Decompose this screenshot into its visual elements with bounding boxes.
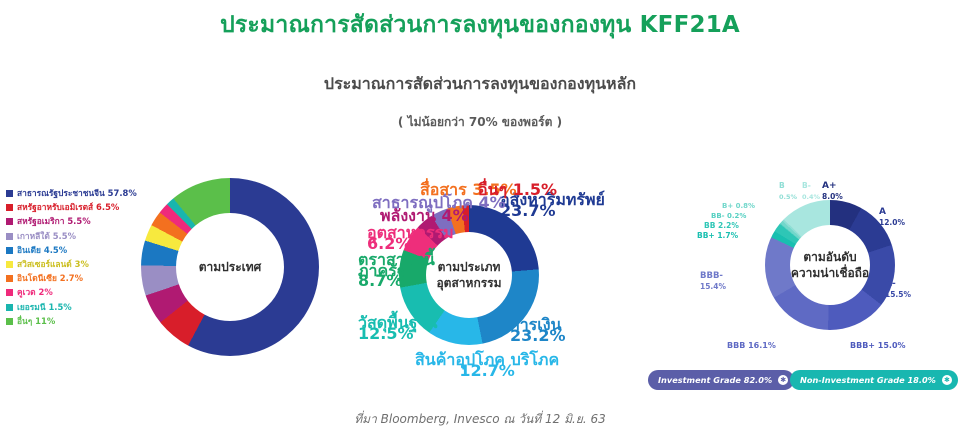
legend-swatch-icon [6,261,13,268]
page-subtitle: ประมาณการสัดส่วนการลงทุนของกองทุนหลัก [0,72,960,96]
rating-label-bb-minus: BB- 0.2% [711,211,746,222]
industry-label-value: 23.2% [510,331,566,342]
rating-label-text: A+ [822,181,837,191]
legend-swatch-icon [6,204,13,211]
legend-item: สวิสเซอร์แลนด์ 3% [6,259,138,270]
legend-swatch-icon [6,218,13,225]
rating-label-value: 15.4% [700,282,726,293]
legend-swatch-icon [6,289,13,296]
legend-item-label: สหรัฐอเมริกา 5.5% [17,216,91,227]
rating-label-a-plus: A+ 8.0% [822,181,843,202]
rating-label-value: 0.5% [779,192,797,203]
industry-label-energy: พลังงาน 4% [380,211,469,222]
legend-swatch-icon [6,275,13,282]
rating-label-bbb: BBB 16.1% [727,341,776,352]
donut-ring: ตามประเทศ [141,178,319,356]
rating-label-bb: BB 2.2% [704,221,739,232]
legend-swatch-icon [6,247,13,254]
legend-item: อินโดนีเซีย 2.7% [6,273,138,284]
legend-item-label: อินเดีย 4.5% [17,245,67,256]
industry-label-others: อื่นๆ 1.5% [478,185,557,196]
rating-label-text: A [879,207,886,217]
legend-item: เกาหลีใต้ 5.5% [6,231,138,242]
investment-grade-badge[interactable]: Investment Grade 82.0% ✱ [648,370,794,390]
industry-label-industrials: อุตสาหกรรม 6.2% [367,228,454,249]
non-investment-grade-badge[interactable]: Non-Investment Grade 18.0% ✱ [790,370,958,390]
legend-item: สหรัฐอเมริกา 5.5% [6,216,138,227]
non-investment-grade-label: Non-Investment Grade 18.0% [800,375,936,385]
rating-label-value: 12.0% [879,218,905,229]
legend-swatch-icon [6,190,13,197]
donut-chart-by-country: ตามประเทศ [141,178,319,356]
page-subnote: ( ไม่น้อยกว่า 70% ของพอร์ต ) [0,112,960,132]
donut-center-line: ตามประเทศ [199,259,262,275]
industry-label-utilities: สาธารณูปโภค 4% [372,198,506,209]
legend-item-label: เกาหลีใต้ 5.5% [17,231,76,242]
industry-label-value: 8.7% [358,276,435,287]
industry-label-consumer-goods: สินค้าอุปโภค บริโภค 12.7% [415,355,559,376]
legend-item: อินเดีย 4.5% [6,245,138,256]
donut-center-line: ตามอันดับ [803,249,856,265]
legend-item-label: อินโดนีเซีย 2.7% [17,273,83,284]
donut-center-label: ตามประเทศ [176,213,284,321]
legend-item: เยอรมนี 1.5% [6,302,138,313]
rating-label-bb-plus: BB+ 1.7% [697,231,738,242]
legend-item-label: คูเวต 2% [17,287,53,298]
legend-item-label: สหรัฐอาหรับเอมิเรตส์ 6.5% [17,202,119,213]
rating-label-value: 0.4% [802,192,820,203]
donut-center-line: อุตสาหกรรม [436,275,501,291]
legend-swatch-icon [6,318,13,325]
industry-label-basic-materials: วัสดุพื้นฐาน 12.5% [358,318,437,339]
rating-label-text: BBB- [700,271,723,281]
rating-label-text: A- [885,279,896,289]
rating-label-value: 8.0% [822,192,843,203]
legend-item-label: สวิสเซอร์แลนด์ 3% [17,259,89,270]
industry-label-government-bonds: ตราสารหนี้ ภาครัฐ 8.7% [358,255,435,287]
rating-label-text: B [779,181,785,190]
slide-root: ประมาณการสัดส่วนการลงทุนของกองทุน KFF21A… [0,0,960,446]
donut-center-label: ตามอันดับ ความน่าเชื่อถือ [790,225,870,305]
rating-label-a-minus: A- 15.5% [885,279,911,300]
rating-label-bbb-plus: BBB+ 15.0% [850,341,906,352]
rating-label-bbb-minus: BBB- 15.4% [700,271,726,292]
rating-label-a: A 12.0% [879,207,905,228]
rating-label-value: 15.5% [885,290,911,301]
legend-item-label: สาธารณรัฐประชาชนจีน 57.8% [17,188,137,199]
legend-item: อื่นๆ 11% [6,316,138,327]
info-icon[interactable]: ✱ [942,375,952,385]
legend-swatch-icon [6,304,13,311]
legend-item: คูเวต 2% [6,287,138,298]
page-title: ประมาณการสัดส่วนการลงทุนของกองทุน KFF21A [0,8,960,42]
donut-ring: ตามอันดับ ความน่าเชื่อถือ [765,200,895,330]
legend-item-label: เยอรมนี 1.5% [17,302,72,313]
donut-center-line: ความน่าเชื่อถือ [791,265,869,281]
legend-swatch-icon [6,233,13,240]
industry-label-finance: การเงิน 23.2% [510,320,566,341]
rating-label-b: B 0.5% [779,181,797,202]
info-icon[interactable]: ✱ [778,375,788,385]
donut-chart-by-credit-rating: ตามอันดับ ความน่าเชื่อถือ [765,200,895,330]
legend-item: สหรัฐอาหรับเอมิเรตส์ 6.5% [6,202,138,213]
rating-label-b-minus: B- 0.4% [802,181,820,202]
rating-label-text: B- [802,181,811,190]
investment-grade-label: Investment Grade 82.0% [658,375,772,385]
source-note: ที่มา Bloomberg, Invesco ณ วันที่ 12 มิ.… [0,410,960,428]
rating-label-b-plus: B+ 0.8% [722,201,755,212]
donut-center-line: ตามประเภท [438,259,501,275]
legend-item-label: อื่นๆ 11% [17,316,55,327]
legend-by-country: สาธารณรัฐประชาชนจีน 57.8% สหรัฐอาหรับเอม… [6,188,138,330]
legend-item: สาธารณรัฐประชาชนจีน 57.8% [6,188,138,199]
